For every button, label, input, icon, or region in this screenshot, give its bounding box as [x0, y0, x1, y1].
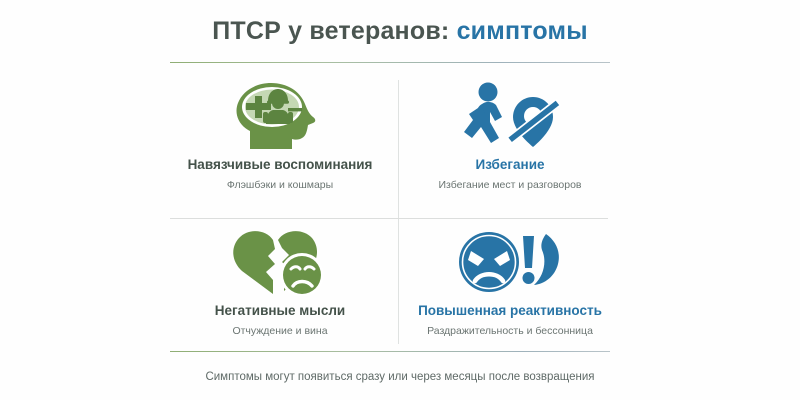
angry-face-exclamation-moon-icon — [400, 224, 620, 300]
symptom-subtitle: Избегание мест и разговоров — [400, 178, 620, 192]
symptom-subtitle: Раздражительность и бессонница — [400, 324, 620, 338]
symptom-grid: Навязчивые воспоминания Флэшбэки и кошма… — [170, 78, 610, 346]
symptom-label: Негативные мысли — [170, 302, 390, 319]
symptom-card-avoidance[interactable]: Избегание Избегание мест и разговоров — [400, 78, 620, 192]
ptsd-symptoms-infographic: ПТСР у ветеранов: симптомы — [0, 0, 800, 400]
title-divider — [170, 62, 610, 63]
broken-heart-sad-face-icon — [170, 224, 390, 300]
head-soldier-memory-icon — [170, 78, 390, 154]
page-title: ПТСР у ветеранов: симптомы — [0, 16, 800, 46]
symptom-card-negative-thoughts[interactable]: Негативные мысли Отчуждение и вина — [170, 224, 390, 338]
walking-person-no-place-icon — [400, 78, 620, 154]
symptom-label: Повышенная реактивность — [400, 302, 620, 319]
symptom-card-hyperarousal[interactable]: Повышенная реактивность Раздражительност… — [400, 224, 620, 338]
page-title-main: ПТСР у ветеранов: — [212, 17, 449, 45]
footer-divider — [170, 351, 610, 352]
symptom-subtitle: Флэшбэки и кошмары — [170, 178, 390, 192]
page-title-accent: симптомы — [457, 17, 588, 45]
grid-vertical-divider — [398, 80, 399, 344]
symptom-subtitle: Отчуждение и вина — [170, 324, 390, 338]
symptom-card-intrusive-memories[interactable]: Навязчивые воспоминания Флэшбэки и кошма… — [170, 78, 390, 192]
footer-note: Симптомы могут появиться сразу или через… — [0, 369, 800, 385]
grid-horizontal-divider — [170, 218, 608, 219]
symptom-label: Избегание — [400, 156, 620, 173]
symptom-label: Навязчивые воспоминания — [170, 156, 390, 173]
